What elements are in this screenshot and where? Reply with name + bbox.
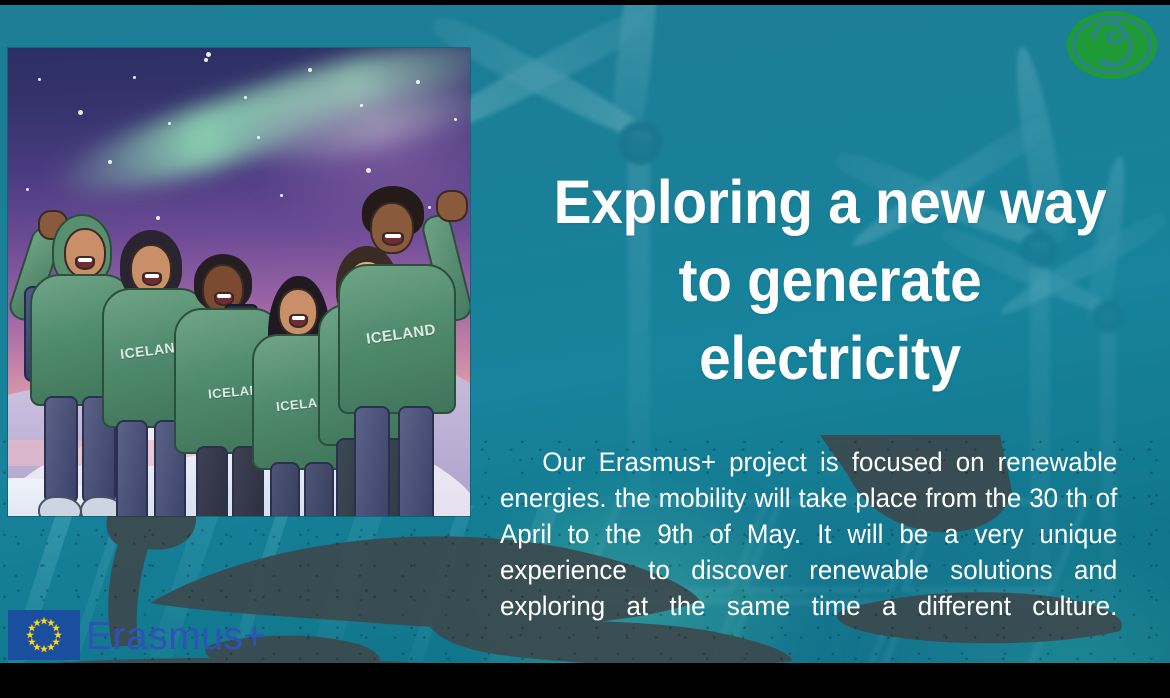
letterbox-bar-top xyxy=(0,0,1170,5)
star xyxy=(108,160,112,164)
team-photo-illustration: ICELAND ICELAND ICELAND xyxy=(8,48,470,516)
eu-flag-icon xyxy=(8,610,80,660)
mouth xyxy=(382,232,404,246)
mouth xyxy=(289,314,308,328)
star xyxy=(308,68,312,72)
presentation-slide: ICELAND ICELAND ICELAND xyxy=(0,0,1170,698)
leg xyxy=(44,396,78,504)
mouth xyxy=(142,272,162,286)
eu-stars xyxy=(8,610,80,660)
leg xyxy=(116,420,148,516)
star xyxy=(360,104,363,107)
star xyxy=(244,96,247,99)
star xyxy=(257,136,260,139)
star xyxy=(156,216,160,220)
title-line-3: electricity xyxy=(523,319,1137,397)
star xyxy=(133,76,136,79)
star xyxy=(454,118,457,121)
face xyxy=(278,288,318,336)
leg xyxy=(270,462,300,516)
raised-fist xyxy=(436,190,468,222)
erasmus-wordmark: Erasmus+ xyxy=(86,614,267,660)
body-paragraph: Our Erasmus+ project is focused on renew… xyxy=(500,444,1117,660)
school-emblem-logo xyxy=(1064,8,1160,82)
title-line-2: to generate xyxy=(523,241,1137,319)
leg xyxy=(398,406,434,516)
star xyxy=(168,122,171,125)
letterbox-bar-bottom xyxy=(0,663,1170,698)
leg xyxy=(196,446,228,516)
star xyxy=(204,58,208,62)
leg xyxy=(354,406,390,516)
page-title: Exploring a new way to generate electric… xyxy=(523,163,1137,397)
star xyxy=(280,194,283,197)
face xyxy=(64,228,106,278)
face xyxy=(370,202,414,254)
star xyxy=(78,110,83,115)
erasmus-plus-logo: Erasmus+ xyxy=(8,610,220,668)
star xyxy=(206,52,211,57)
face xyxy=(130,244,172,294)
title-line-1: Exploring a new way xyxy=(523,163,1137,241)
star xyxy=(38,78,41,81)
mouth xyxy=(75,256,95,270)
star xyxy=(416,80,420,84)
person-6: ICELAND xyxy=(344,158,470,516)
